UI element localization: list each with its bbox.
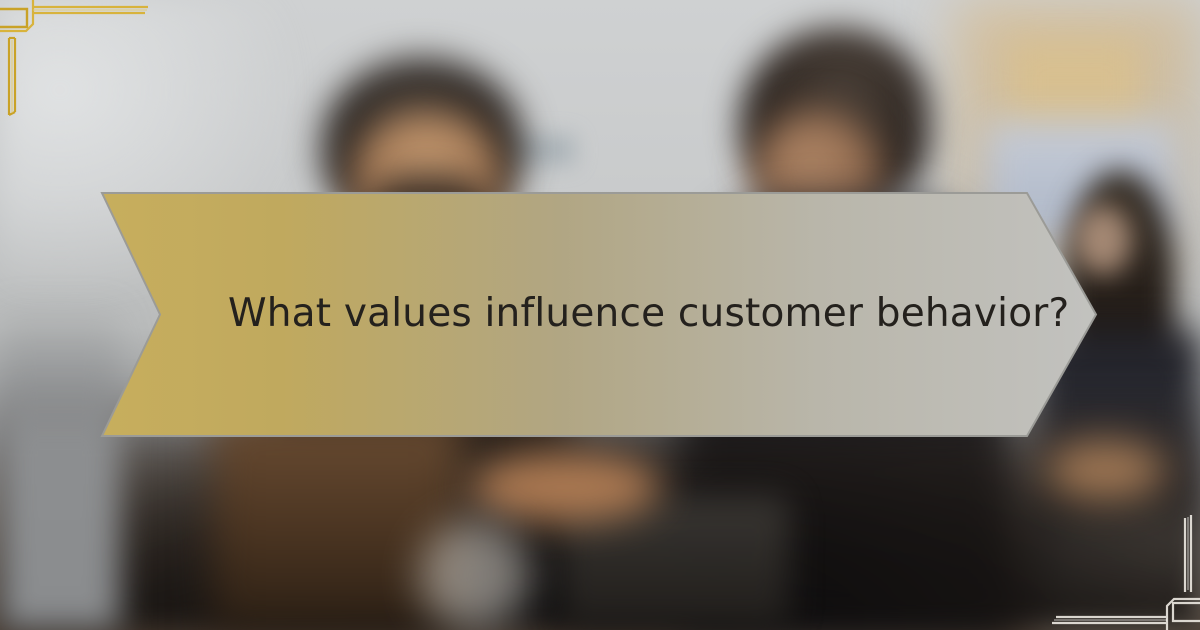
foreground-hand-left (470, 452, 660, 522)
promo-card: What values influence customer behavior? (0, 0, 1200, 630)
foreground-light-blob (420, 520, 530, 630)
gold-corner-flourish-icon (0, 0, 170, 150)
banner-ribbon (100, 191, 1098, 438)
foreground-hand-right (1045, 440, 1165, 500)
light-corner-flourish-icon (1040, 510, 1200, 630)
